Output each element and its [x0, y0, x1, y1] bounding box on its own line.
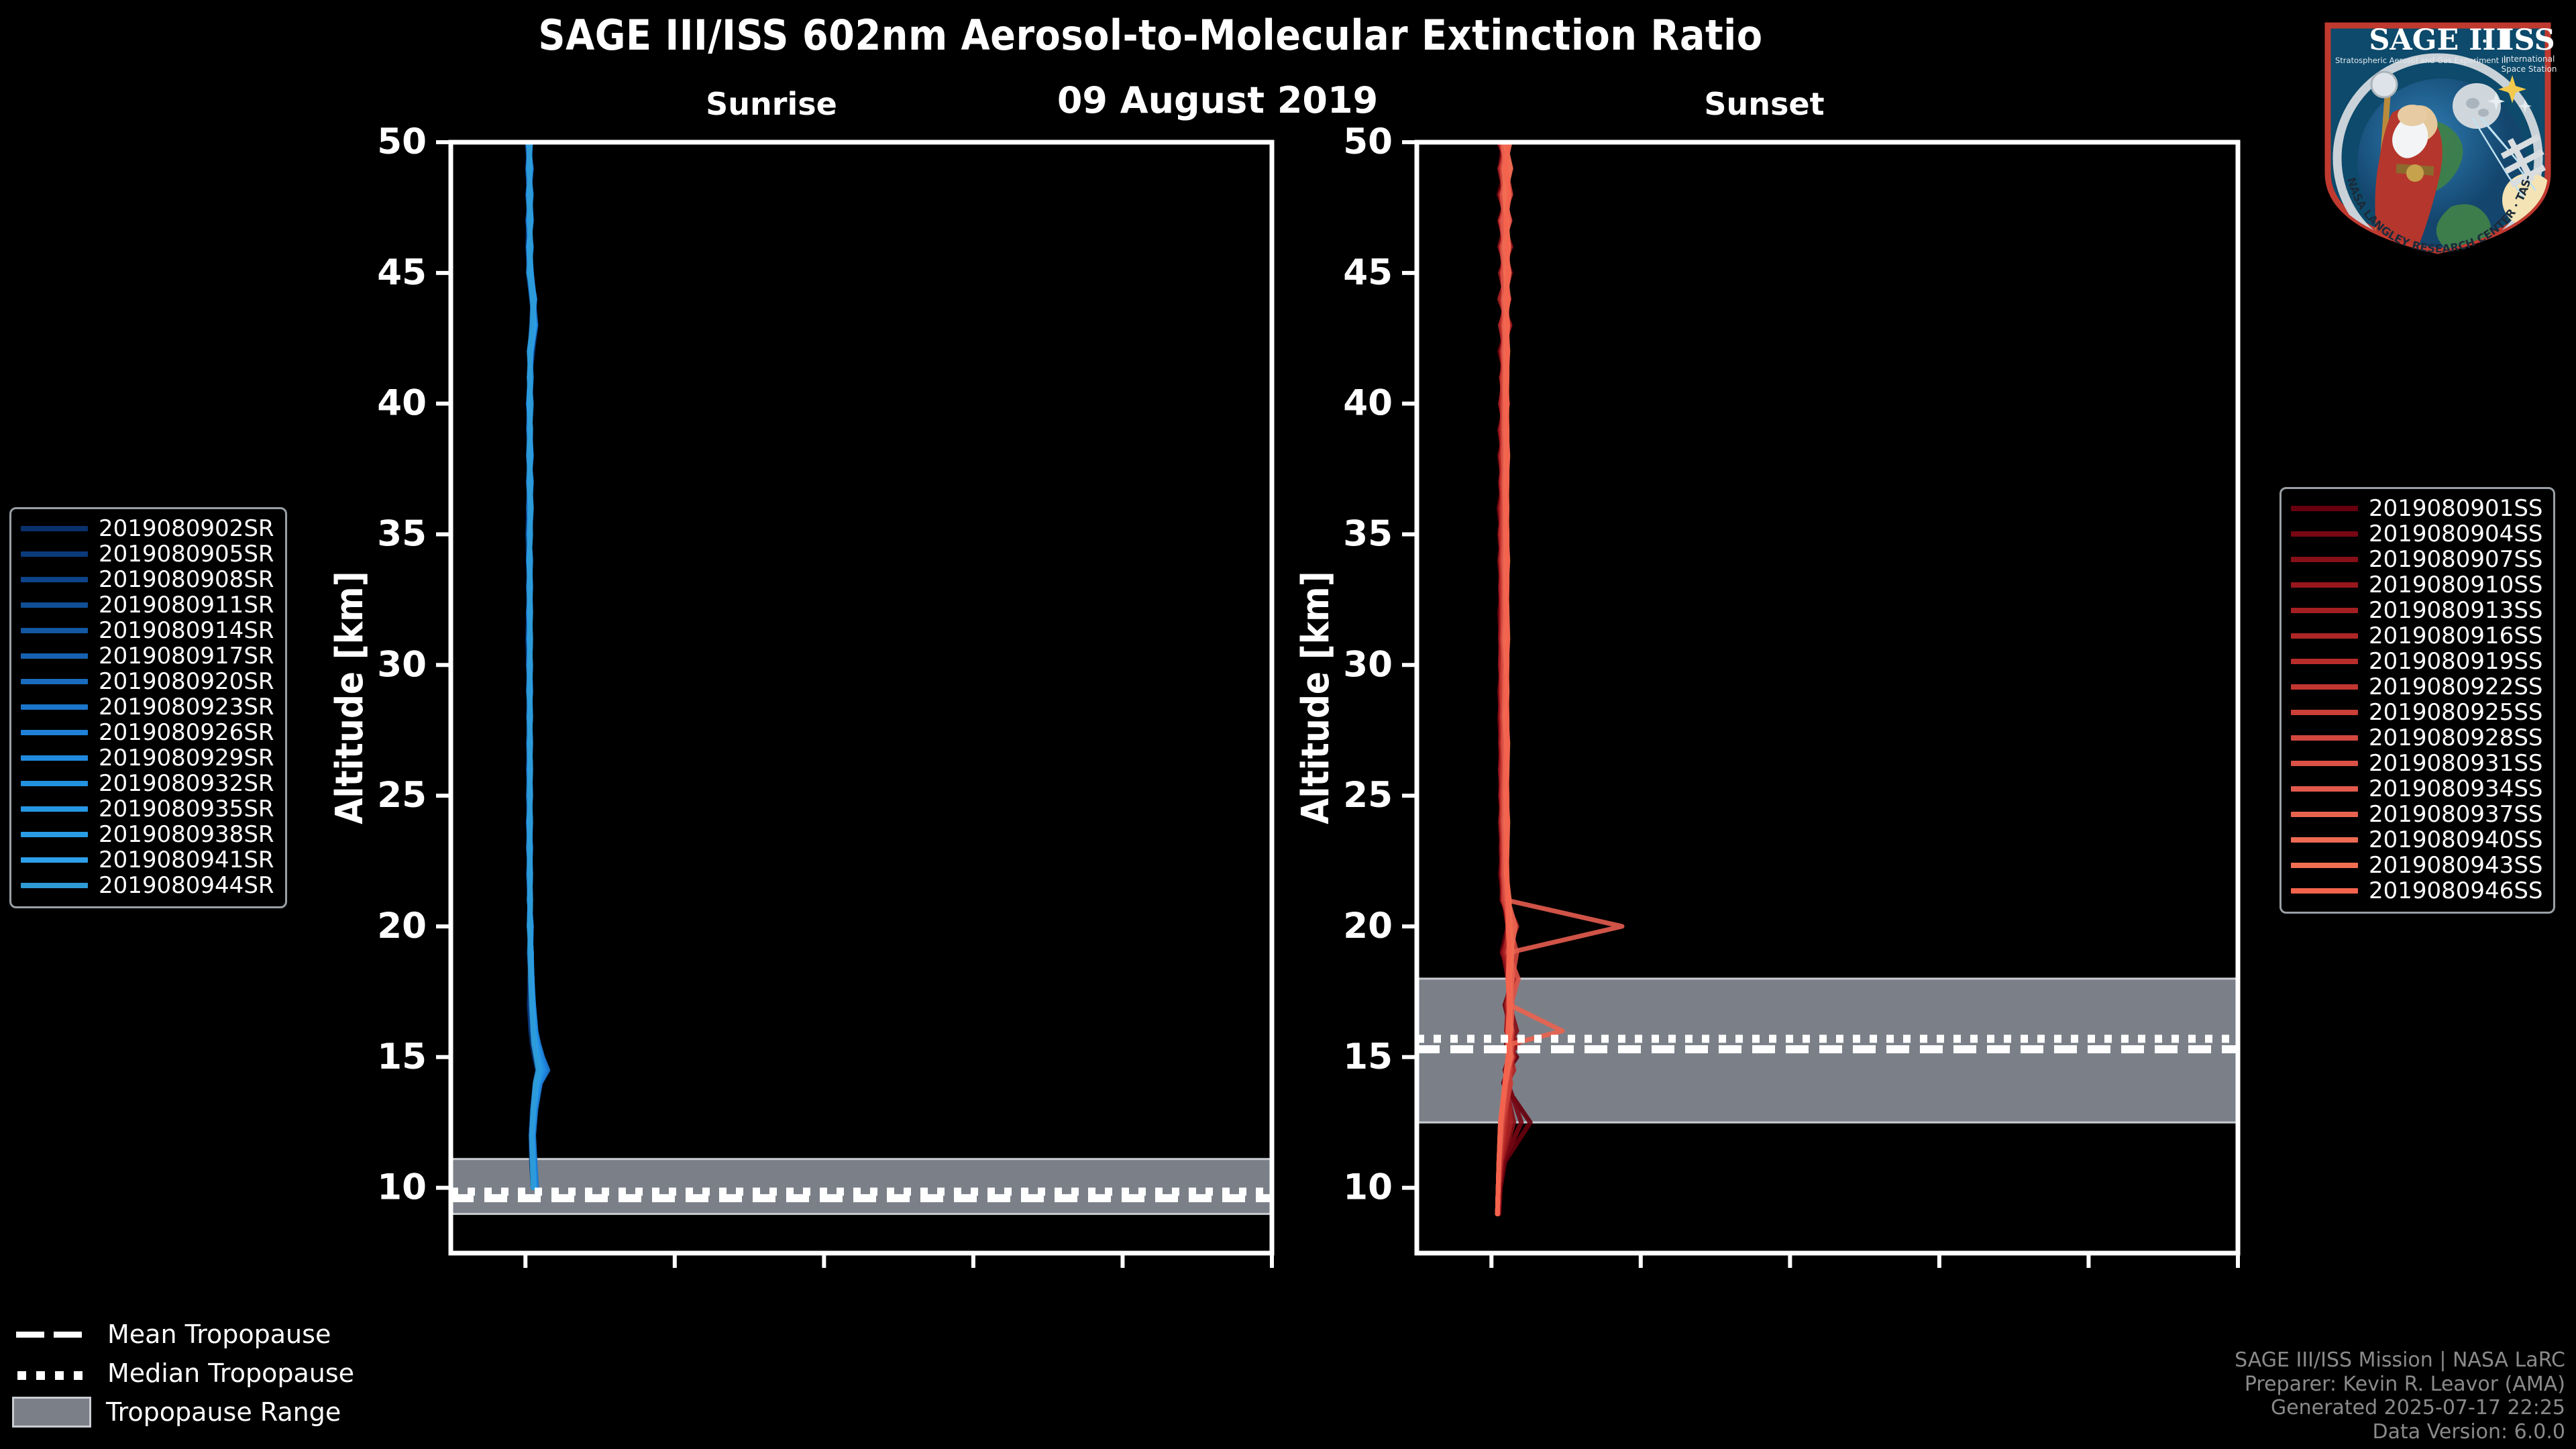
- credit-line-mission: SAGE III/ISS Mission | NASA LaRC: [2235, 1348, 2565, 1372]
- dashed-line-icon: [12, 1325, 93, 1344]
- sunrise-series-legend[interactable]: 2019080902SR2019080905SR2019080908SR2019…: [9, 507, 287, 908]
- page-title: SAGE III/ISS 602nm Aerosol-to-Molecular …: [0, 11, 2301, 60]
- y-tick-label: 45: [377, 252, 427, 293]
- legend-item-tropopause-range: Tropopause Range: [12, 1393, 354, 1432]
- y-tick-label: 15: [1343, 1036, 1393, 1077]
- legend-color-swatch: [2291, 531, 2358, 537]
- legend-label-sunrise-event: 2019080929SR: [99, 745, 274, 771]
- legend-label-sunset-event: 2019080913SS: [2369, 597, 2542, 624]
- legend-label-sunset-event: 2019080937SS: [2369, 801, 2542, 828]
- legend-color-swatch: [2291, 582, 2358, 588]
- legend-item-sunrise-event[interactable]: 2019080926SR: [21, 720, 274, 745]
- y-tick-label: 25: [1343, 775, 1393, 816]
- legend-color-swatch: [2291, 659, 2358, 664]
- legend-color-swatch: [2291, 786, 2358, 792]
- legend-color-swatch: [2291, 684, 2358, 690]
- legend-color-swatch: [21, 679, 88, 684]
- credits-block: SAGE III/ISS Mission | NASA LaRC Prepare…: [2235, 1348, 2565, 1444]
- legend-item-sunrise-event[interactable]: 2019080929SR: [21, 745, 274, 771]
- legend-item-sunrise-event[interactable]: 2019080920SR: [21, 669, 274, 694]
- legend-item-sunrise-event[interactable]: 2019080911SR: [21, 592, 274, 618]
- legend-label-sunrise-event: 2019080932SR: [99, 770, 274, 797]
- legend-item-sunset-event[interactable]: 2019080919SS: [2291, 649, 2542, 674]
- legend-label-sunset-event: 2019080946SS: [2369, 877, 2542, 904]
- legend-label-sunrise-event: 2019080917SR: [99, 643, 274, 669]
- x-tick-label: 40: [1765, 1276, 1815, 1281]
- credit-line-generated: Generated 2025-07-17 22:25: [2235, 1396, 2565, 1419]
- legend-label-mean-tropopause: Mean Tropopause: [107, 1320, 331, 1349]
- legend-color-swatch: [21, 602, 88, 608]
- legend-item-sunset-event[interactable]: 2019080904SS: [2291, 521, 2542, 547]
- legend-color-swatch: [21, 755, 88, 761]
- legend-color-swatch: [2291, 506, 2358, 511]
- logo-title-separator: ·: [2481, 28, 2488, 56]
- legend-label-sunrise-event: 2019080944SR: [99, 872, 274, 899]
- y-tick-label: 10: [1343, 1167, 1393, 1208]
- legend-item-sunrise-event[interactable]: 2019080908SR: [21, 567, 274, 592]
- legend-item-sunset-event[interactable]: 2019080931SS: [2291, 751, 2542, 776]
- legend-item-sunset-event[interactable]: 2019080910SS: [2291, 572, 2542, 598]
- legend-item-sunrise-event[interactable]: 2019080923SR: [21, 694, 274, 720]
- y-tick-label: 35: [1343, 513, 1393, 554]
- y-tick-label: 50: [377, 121, 427, 162]
- legend-item-sunrise-event[interactable]: 2019080914SR: [21, 618, 274, 643]
- legend-label-sunrise-event: 2019080911SR: [99, 592, 274, 619]
- x-tick-label: 20: [1616, 1276, 1666, 1281]
- sunset-chart: 101520253035404550020406080100Aerosol-To…: [1248, 101, 2267, 1281]
- y-tick-label: 40: [1343, 383, 1393, 424]
- legend-color-swatch: [2291, 888, 2358, 894]
- legend-label-sunset-event: 2019080922SS: [2369, 674, 2542, 700]
- legend-item-sunset-event[interactable]: 2019080916SS: [2291, 623, 2542, 649]
- legend-item-mean-tropopause: Mean Tropopause: [12, 1315, 354, 1354]
- x-tick-label: 60: [949, 1276, 998, 1281]
- legend-color-swatch: [2291, 633, 2358, 639]
- legend-color-swatch: [21, 551, 88, 557]
- legend-item-sunrise-event[interactable]: 2019080944SR: [21, 873, 274, 898]
- y-tick-label: 25: [377, 775, 427, 816]
- legend-color-swatch: [2291, 608, 2358, 613]
- legend-label-sunset-event: 2019080928SS: [2369, 724, 2542, 751]
- tropopause-legend: Mean Tropopause Median Tropopause Tropop…: [12, 1315, 354, 1432]
- legend-label-sunset-event: 2019080916SS: [2369, 623, 2542, 649]
- y-tick-label: 20: [377, 906, 427, 947]
- legend-label-sunrise-event: 2019080941SR: [99, 847, 274, 873]
- logo-subtitle-right-1: International: [2504, 54, 2555, 64]
- legend-label-median-tropopause: Median Tropopause: [107, 1358, 354, 1388]
- legend-item-sunset-event[interactable]: 2019080943SS: [2291, 853, 2542, 878]
- legend-label-sunset-event: 2019080931SS: [2369, 750, 2542, 777]
- legend-item-sunrise-event[interactable]: 2019080905SR: [21, 541, 274, 567]
- sunset-plot-panel: 101520253035404550020406080100Aerosol-To…: [1248, 101, 2267, 1281]
- legend-item-sunrise-event[interactable]: 2019080932SR: [21, 771, 274, 796]
- legend-item-sunrise-event[interactable]: 2019080941SR: [21, 847, 274, 873]
- legend-color-swatch: [2291, 812, 2358, 817]
- legend-item-median-tropopause: Median Tropopause: [12, 1354, 354, 1393]
- legend-color-swatch: [21, 730, 88, 735]
- y-axis-label: Altitude [km]: [1294, 571, 1338, 824]
- dotted-line-icon: [12, 1364, 93, 1383]
- y-tick-label: 45: [1343, 252, 1393, 293]
- sage-iii-iss-logo: SAGE III · ISS Stratospheric Aerosol and…: [2308, 5, 2568, 255]
- legend-color-swatch: [21, 857, 88, 863]
- legend-color-swatch: [21, 704, 88, 710]
- legend-item-sunrise-event[interactable]: 2019080935SR: [21, 796, 274, 822]
- legend-label-sunset-event: 2019080943SS: [2369, 852, 2542, 879]
- legend-label-sunset-event: 2019080925SS: [2369, 699, 2542, 726]
- legend-label-sunset-event: 2019080940SS: [2369, 826, 2542, 853]
- y-tick-label: 40: [377, 383, 427, 424]
- legend-label-sunset-event: 2019080904SS: [2369, 521, 2542, 547]
- legend-item-sunrise-event[interactable]: 2019080902SR: [21, 516, 274, 541]
- plot-frame: [451, 142, 1272, 1253]
- credit-line-version: Data Version: 6.0.0: [2235, 1420, 2565, 1444]
- tropopause-range-band: [451, 1159, 1272, 1214]
- x-tick-label: 80: [1098, 1276, 1148, 1281]
- x-tick-label: 40: [799, 1276, 849, 1281]
- sunset-series-legend[interactable]: 2019080901SS2019080904SS2019080907SS2019…: [2279, 487, 2555, 914]
- legend-item-sunset-event[interactable]: 2019080907SS: [2291, 547, 2542, 572]
- legend-color-swatch: [21, 883, 88, 888]
- y-tick-label: 10: [377, 1167, 427, 1208]
- x-tick-label: 100: [2201, 1276, 2267, 1281]
- y-tick-label: 35: [377, 513, 427, 554]
- x-tick-label: 80: [2064, 1276, 2114, 1281]
- logo-subtitle-left: Stratospheric Aerosol and Gas Experiment…: [2335, 56, 2508, 65]
- legend-color-swatch: [21, 628, 88, 633]
- legend-item-sunset-event[interactable]: 2019080913SS: [2291, 598, 2542, 623]
- legend-color-swatch: [2291, 710, 2358, 715]
- legend-item-sunset-event[interactable]: 2019080937SS: [2291, 802, 2542, 827]
- legend-label-sunrise-event: 2019080902SR: [99, 515, 274, 542]
- legend-item-sunset-event[interactable]: 2019080940SS: [2291, 827, 2542, 853]
- y-tick-label: 30: [1343, 644, 1393, 685]
- legend-label-sunset-event: 2019080901SS: [2369, 495, 2542, 522]
- logo-title-iss: ISS: [2500, 23, 2555, 57]
- mission-patch-icon: SAGE III · ISS Stratospheric Aerosol and…: [2308, 5, 2568, 255]
- legend-item-sunrise-event[interactable]: 2019080917SR: [21, 643, 274, 669]
- legend-label-sunrise-event: 2019080923SR: [99, 694, 274, 720]
- legend-color-swatch: [21, 653, 88, 659]
- legend-item-sunset-event[interactable]: 2019080934SS: [2291, 776, 2542, 802]
- x-tick-label: 60: [1915, 1276, 1964, 1281]
- legend-color-swatch: [2291, 761, 2358, 766]
- legend-label-sunrise-event: 2019080920SR: [99, 668, 274, 695]
- legend-color-swatch: [21, 806, 88, 812]
- legend-item-sunset-event[interactable]: 2019080901SS: [2291, 496, 2542, 521]
- y-tick-label: 50: [1343, 121, 1393, 162]
- legend-color-swatch: [2291, 863, 2358, 868]
- legend-color-swatch: [2291, 557, 2358, 562]
- legend-color-swatch: [21, 781, 88, 786]
- x-tick-label: 0: [513, 1276, 538, 1281]
- x-tick-label: 20: [650, 1276, 700, 1281]
- legend-item-sunset-event[interactable]: 2019080946SS: [2291, 878, 2542, 904]
- legend-color-swatch: [2291, 837, 2358, 843]
- legend-item-sunset-event[interactable]: 2019080922SS: [2291, 674, 2542, 700]
- legend-label-tropopause-range: Tropopause Range: [106, 1397, 341, 1427]
- legend-label-sunrise-event: 2019080926SR: [99, 719, 274, 746]
- y-tick-label: 30: [377, 644, 427, 685]
- logo-subtitle-right-2: Space Station: [2501, 64, 2557, 74]
- credit-line-preparer: Preparer: Kevin R. Leavor (AMA): [2235, 1373, 2565, 1396]
- y-axis-label: Altitude [km]: [328, 571, 372, 824]
- legend-item-sunrise-event[interactable]: 2019080938SR: [21, 822, 274, 847]
- legend-label-sunset-event: 2019080919SS: [2369, 648, 2542, 675]
- sunrise-plot-panel: 101520253035404550020406080100Aerosol-To…: [282, 101, 1301, 1281]
- legend-label-sunrise-event: 2019080938SR: [99, 821, 274, 848]
- legend-color-swatch: [21, 577, 88, 582]
- y-tick-label: 15: [377, 1036, 427, 1077]
- legend-item-sunset-event[interactable]: 2019080928SS: [2291, 725, 2542, 751]
- legend-label-sunset-event: 2019080910SS: [2369, 572, 2542, 598]
- y-tick-label: 20: [1343, 906, 1393, 947]
- legend-item-sunset-event[interactable]: 2019080925SS: [2291, 700, 2542, 725]
- legend-label-sunrise-event: 2019080935SR: [99, 796, 274, 822]
- gray-band-icon: [12, 1397, 91, 1428]
- legend-label-sunset-event: 2019080907SS: [2369, 546, 2542, 573]
- legend-color-swatch: [21, 526, 88, 531]
- legend-label-sunrise-event: 2019080905SR: [99, 541, 274, 568]
- legend-color-swatch: [2291, 735, 2358, 741]
- legend-label-sunrise-event: 2019080914SR: [99, 617, 274, 644]
- legend-color-swatch: [21, 832, 88, 837]
- x-tick-label: 0: [1479, 1276, 1504, 1281]
- legend-label-sunset-event: 2019080934SS: [2369, 775, 2542, 802]
- legend-label-sunrise-event: 2019080908SR: [99, 566, 274, 593]
- sunrise-chart: 101520253035404550020406080100Aerosol-To…: [282, 101, 1301, 1281]
